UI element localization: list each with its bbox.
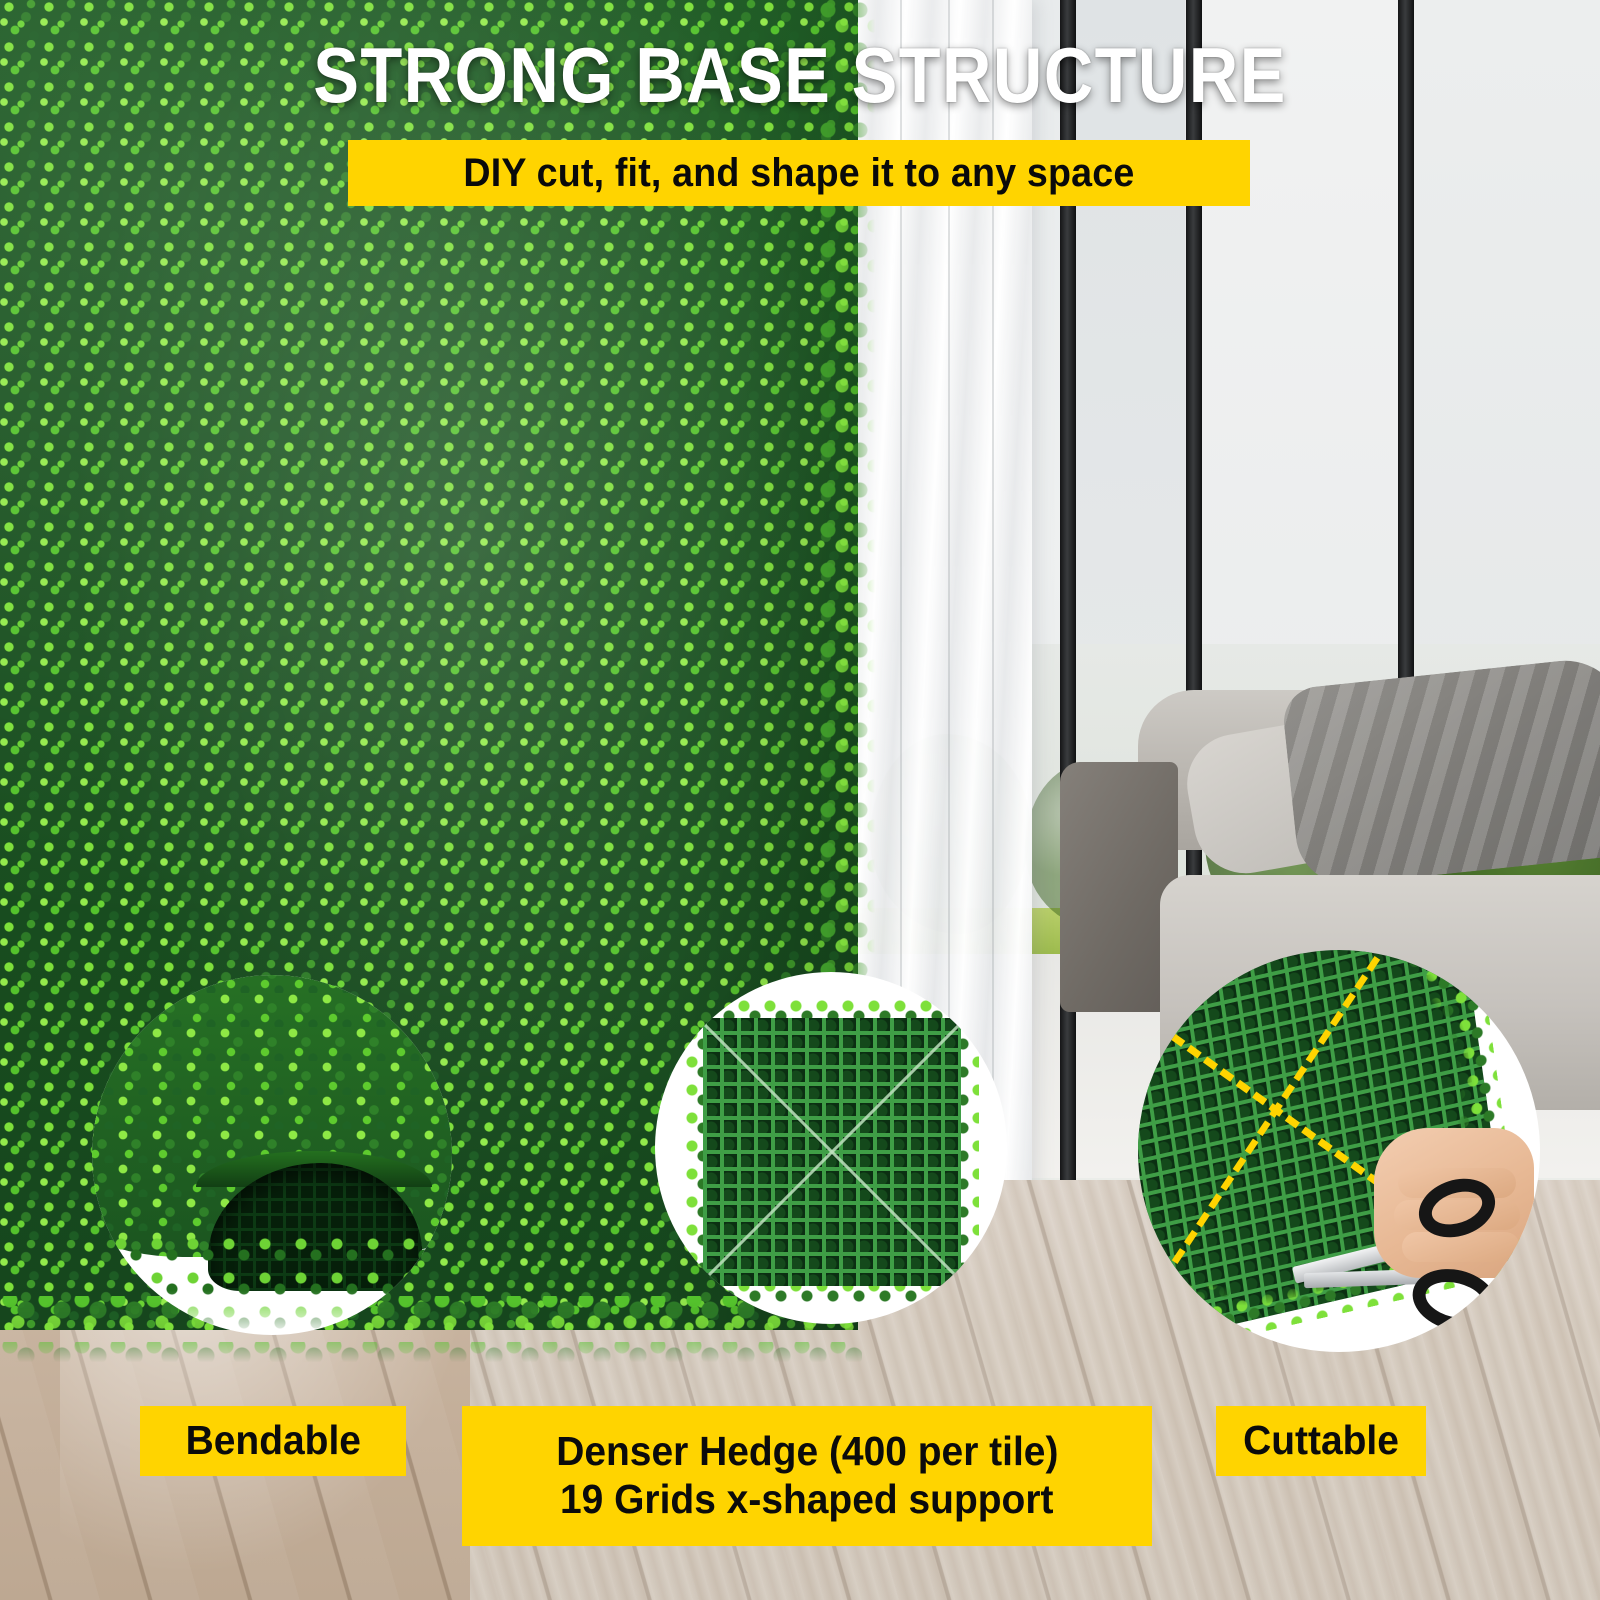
callout-circle-grid-back — [655, 972, 1007, 1324]
badge-denser-line1: Denser Hedge (400 per tile) — [556, 1428, 1058, 1476]
badge-cuttable-label: Cuttable — [1243, 1417, 1399, 1465]
callout-circle-bendable — [92, 975, 452, 1335]
badge-denser-hedge: Denser Hedge (400 per tile) 19 Grids x-s… — [462, 1406, 1152, 1546]
badge-bendable: Bendable — [140, 1406, 406, 1476]
grid-tile-back — [703, 1018, 961, 1286]
x-shaped-support-icon — [703, 1018, 961, 1286]
badge-bendable-label: Bendable — [185, 1417, 360, 1465]
subtitle-text: DIY cut, fit, and shape it to any space — [463, 151, 1134, 196]
throw-blanket — [1280, 655, 1600, 889]
badge-denser-line2: 19 Grids x-shaped support — [560, 1476, 1053, 1524]
panel-lower-foliage — [112, 1237, 442, 1335]
badge-cuttable: Cuttable — [1216, 1406, 1426, 1476]
subtitle-banner: DIY cut, fit, and shape it to any space — [348, 140, 1250, 206]
callout-circle-cuttable — [1138, 950, 1540, 1352]
page-title: STRONG BASE STRUCTURE — [96, 36, 1504, 114]
product-marketing-image: STRONG BASE STRUCTURE DIY cut, fit, and … — [0, 0, 1600, 1600]
